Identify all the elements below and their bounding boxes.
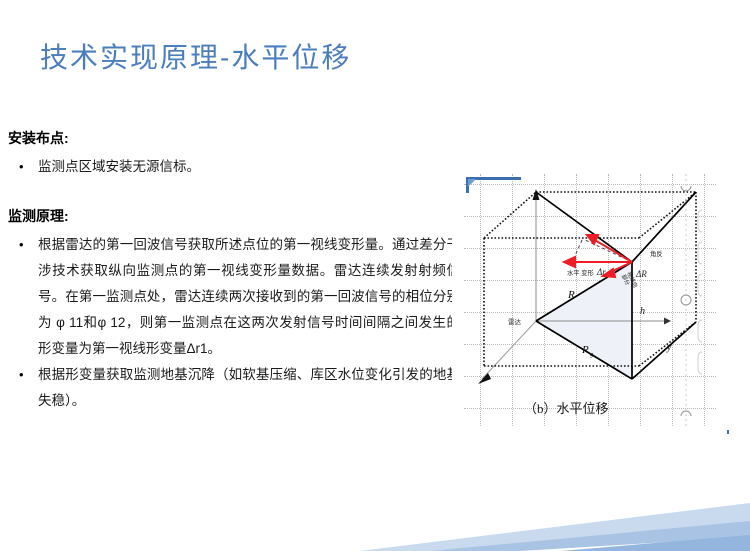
label-ground-range: R (581, 344, 589, 356)
svg-text:Δr: Δr (596, 267, 606, 277)
label-slant-range: R (567, 289, 575, 301)
label-corner-reflector: 角反 (650, 249, 663, 258)
installation-bullet-list: 监测点区域安装无源信标。 (8, 154, 460, 180)
principle-bullet-list: 根据雷达的第一回波信号获取所述点位的第一视线变形量。通过差分干涉技术获取纵向监测… (8, 232, 460, 414)
label-height: h (640, 306, 645, 317)
document-page: 雷达 R R g h y 水平 变形 Δr 角反 ΔR 视线向 部分 （b）水平… (464, 174, 716, 426)
slide-canvas: 技术实现原理-水平位移 安装布点: 监测点区域安装无源信标。 监测原理: 根据雷… (0, 0, 750, 551)
section-heading-installation: 安装布点: (8, 128, 460, 148)
cursor-marker (727, 430, 729, 434)
content-column: 安装布点: 监测点区域安装无源信标。 监测原理: 根据雷达的第一回波信号获取所述… (8, 128, 460, 414)
figure-caption-text: （b）水平位移 (524, 401, 609, 416)
list-item: 根据形变量获取监测地基沉降（如软基压缩、库区水位变化引发的地基失稳）。 (8, 362, 460, 414)
figure-caption: （b）水平位移 (524, 398, 609, 417)
page-title: 技术实现原理-水平位移 (40, 36, 351, 76)
label-y-axis: y (666, 342, 672, 353)
decor-bands (0, 481, 750, 551)
label-horizontal-deformation: 水平 变形 (567, 268, 594, 277)
figure-image: 雷达 R R g h y 水平 变形 Δr 角反 ΔR 视线向 部分 （b）水平… (452, 166, 735, 434)
document-margin-marks (676, 174, 716, 426)
list-item: 监测点区域安装无源信标。 (8, 154, 460, 180)
section-heading-principle: 监测原理: (8, 206, 460, 226)
label-radar: 雷达 (508, 317, 522, 326)
label-delta-R: ΔR (635, 269, 647, 279)
list-item: 根据雷达的第一回波信号获取所述点位的第一视线变形量。通过差分干涉技术获取纵向监测… (8, 232, 460, 362)
